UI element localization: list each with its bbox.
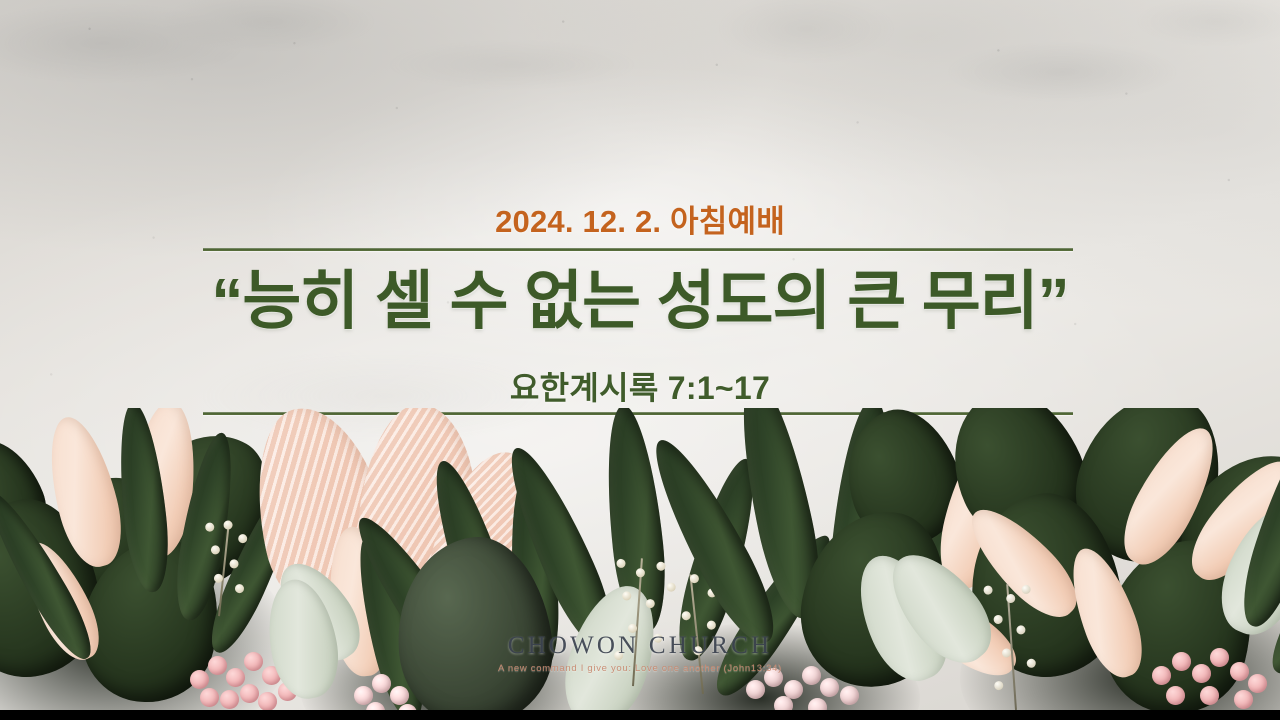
sermon-title: “능히 셀 수 없는 성도의 큰 무리” bbox=[0, 268, 1280, 335]
babys-breath-sprig bbox=[600, 556, 673, 688]
babys-breath-sprig bbox=[192, 518, 254, 619]
pale-berry-cluster bbox=[744, 662, 864, 714]
service-date-label: 2024. 12. 2. 아침예배 bbox=[0, 196, 1280, 241]
divider-line-top bbox=[203, 248, 1073, 251]
letterbox-bar-bottom bbox=[0, 710, 1280, 720]
foliage-decoration bbox=[0, 408, 1280, 720]
pink-berry-cluster bbox=[1150, 646, 1270, 702]
scripture-reference: 요한계시록 7:1~17 bbox=[0, 363, 1280, 409]
babys-breath-sprig bbox=[977, 582, 1044, 712]
worship-slide: 2024. 12. 2. 아침예배 “능히 셀 수 없는 성도의 큰 무리” 요… bbox=[0, 0, 1280, 720]
